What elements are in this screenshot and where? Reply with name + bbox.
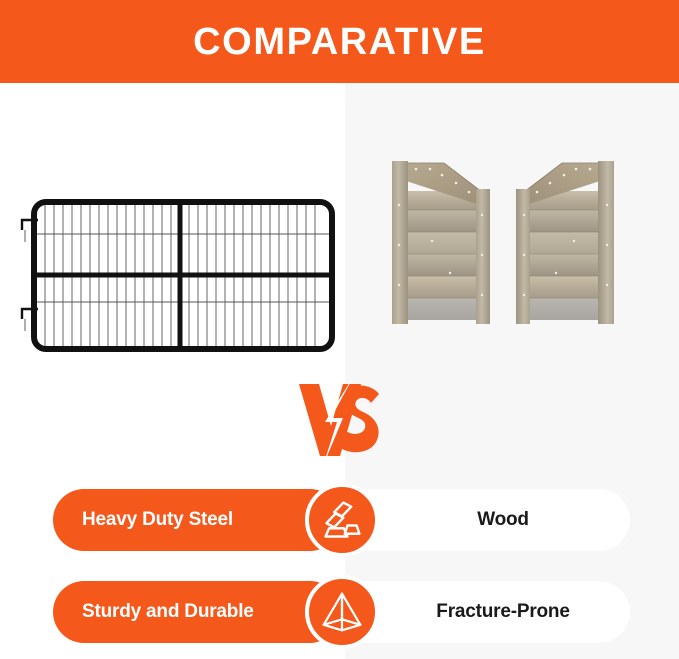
comparative-infographic: COMPARATIVE — [0, 0, 679, 659]
wood-gate-image — [372, 145, 634, 345]
pill-right-fracture[interactable]: Fracture-Prone — [336, 581, 630, 643]
metal-ingots-icon — [305, 483, 379, 557]
steel-gate-image — [14, 198, 339, 353]
pill-left-label: Heavy Duty Steel — [82, 509, 233, 531]
gate-rails — [34, 202, 332, 349]
pill-left-label: Sturdy and Durable — [82, 601, 254, 623]
pill-right-wood[interactable]: Wood — [336, 489, 630, 551]
header-banner: COMPARATIVE — [0, 0, 679, 83]
comparison-row-2: Sturdy and Durable Fracture-Prone — [0, 575, 679, 649]
wood-post-left — [392, 161, 408, 324]
wood-gate-right-leaf — [516, 161, 614, 324]
wood-gate-left-leaf — [392, 161, 490, 324]
comparison-row-1: Heavy Duty Steel Wood — [0, 483, 679, 557]
pill-right-label: Wood — [477, 509, 529, 531]
pyramid-wireframe-icon — [305, 575, 379, 649]
page-title: COMPARATIVE — [193, 23, 486, 61]
pill-left-sturdy[interactable]: Sturdy and Durable — [53, 581, 341, 643]
pill-left-steel[interactable]: Heavy Duty Steel — [53, 489, 341, 551]
vs-lightning-icon — [293, 374, 385, 466]
product-image-stage — [0, 83, 679, 383]
wood-post-right — [598, 161, 614, 324]
pill-right-label: Fracture-Prone — [436, 601, 569, 623]
